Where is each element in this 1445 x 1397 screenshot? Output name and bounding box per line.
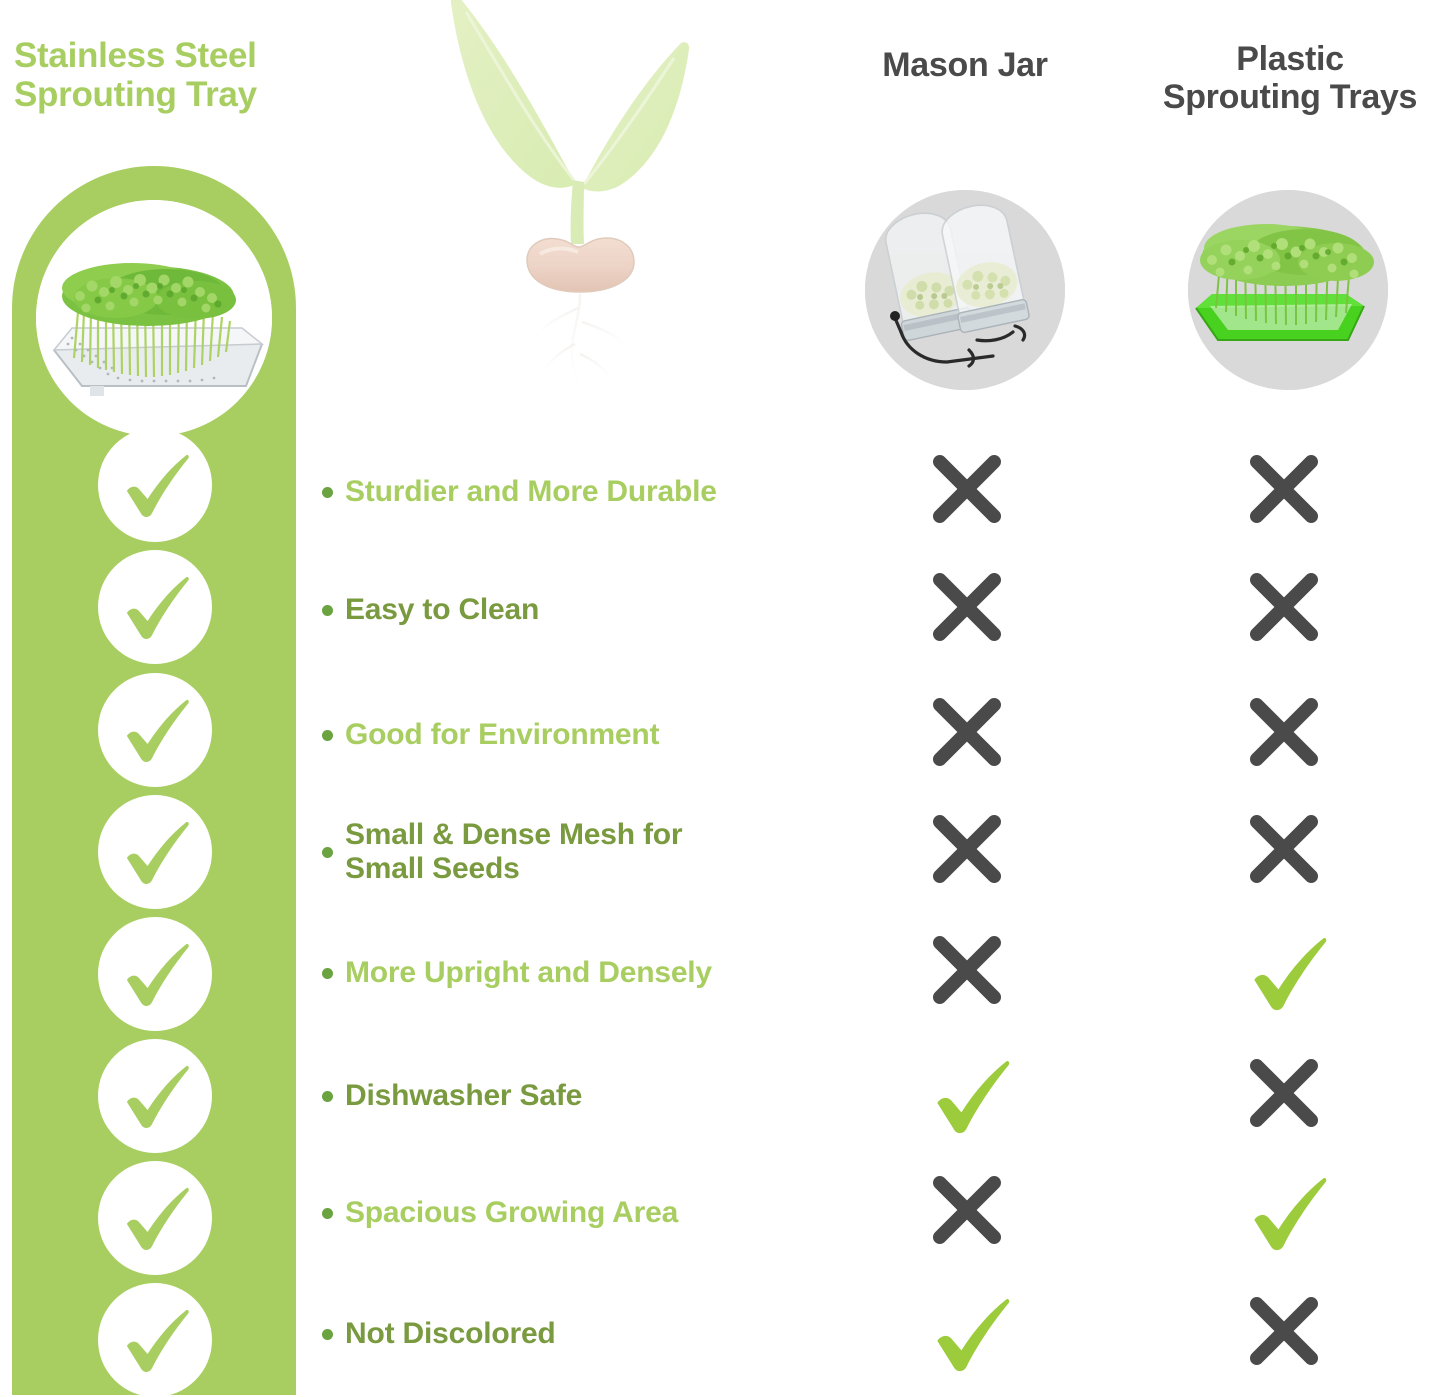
left-column-title-line1: Stainless Steel [14, 36, 344, 75]
feature-label: Sturdier and More Durable [345, 475, 815, 509]
cross-mark-icon [1244, 449, 1330, 535]
photo-stainless-steel-tray [36, 200, 272, 436]
stainless-check-circle [98, 795, 212, 909]
cross-mark-icon [1244, 809, 1330, 895]
check-mark-icon [927, 1291, 1013, 1377]
stainless-check-circle [98, 917, 212, 1031]
photo-plastic-sprouting-tray [1188, 190, 1388, 390]
feature-bullet [322, 487, 333, 498]
comparison-infographic: Stainless Steel Sprouting Tray Mason Jar… [0, 0, 1445, 1395]
cross-mark-icon [1244, 567, 1330, 653]
cross-mark-icon [927, 930, 1013, 1016]
stainless-check-circle [98, 550, 212, 664]
check-mark-icon [927, 1053, 1013, 1139]
column-header-plastic-line1: Plastic [1140, 40, 1440, 78]
photo-mason-jar [865, 190, 1065, 390]
cross-mark-icon [927, 449, 1013, 535]
feature-bullet [322, 968, 333, 979]
column-header-plastic-sprouting-trays: Plastic Sprouting Trays [1140, 40, 1440, 117]
stainless-check-circle [98, 1283, 212, 1397]
cross-mark-icon [1244, 1053, 1330, 1139]
left-column-title-line2: Sprouting Tray [14, 75, 344, 114]
feature-bullet [322, 605, 333, 616]
feature-bullet [322, 1091, 333, 1102]
feature-label: Good for Environment [345, 718, 815, 752]
feature-bullet [322, 1208, 333, 1219]
feature-label: Easy to Clean [345, 593, 815, 627]
left-column-title: Stainless Steel Sprouting Tray [14, 36, 344, 114]
cross-mark-icon [927, 1170, 1013, 1256]
feature-label: Spacious Growing Area [345, 1196, 815, 1230]
cross-mark-icon [927, 567, 1013, 653]
check-mark-icon [1244, 1170, 1330, 1256]
feature-label: Small & Dense Mesh forSmall Seeds [345, 818, 815, 886]
stainless-check-circle [98, 673, 212, 787]
stainless-check-circle [98, 428, 212, 542]
feature-bullet [322, 730, 333, 741]
column-header-plastic-line2: Sprouting Trays [1140, 78, 1440, 116]
sprout-watermark-icon [432, 0, 732, 412]
cross-mark-icon [1244, 1291, 1330, 1377]
check-mark-icon [1244, 930, 1330, 1016]
feature-label: More Upright and Densely [345, 956, 815, 990]
cross-mark-icon [927, 692, 1013, 778]
feature-label: Dishwasher Safe [345, 1079, 815, 1113]
column-header-mason-jar: Mason Jar [820, 46, 1110, 84]
stainless-check-circle [98, 1039, 212, 1153]
cross-mark-icon [927, 809, 1013, 895]
feature-bullet [322, 1329, 333, 1340]
feature-bullet [322, 847, 333, 858]
cross-mark-icon [1244, 692, 1330, 778]
stainless-check-circle [98, 1161, 212, 1275]
feature-label: Not Discolored [345, 1317, 815, 1351]
